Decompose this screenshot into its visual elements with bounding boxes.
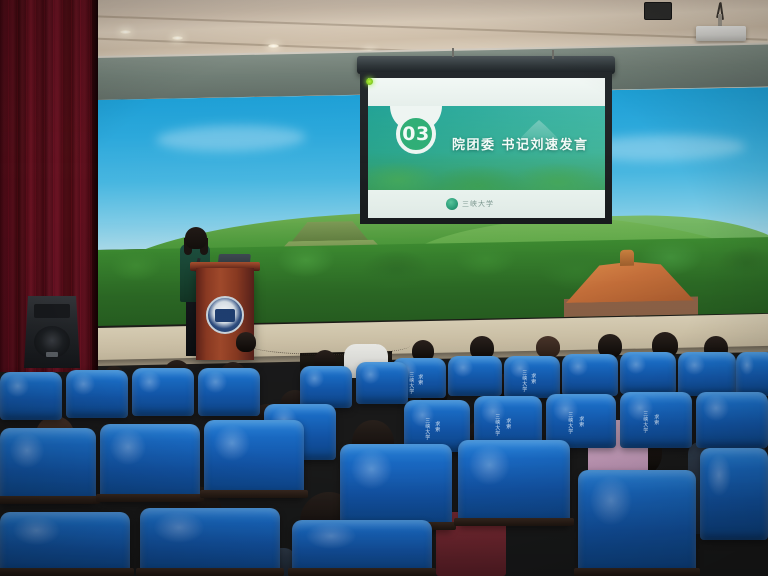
auditorium-seat[interactable] xyxy=(678,352,736,396)
seat-highlight xyxy=(306,523,356,549)
seat-highlight xyxy=(361,365,380,384)
seat-print-text: 求索 xyxy=(653,414,659,425)
auditorium-seat[interactable] xyxy=(132,368,194,416)
mural-pagoda-finial xyxy=(620,250,634,266)
seat-armrest xyxy=(288,568,436,576)
auditorium-seat[interactable]: 三峡大学求索 xyxy=(620,392,692,448)
seat-highlight xyxy=(10,433,45,468)
seat-highlight xyxy=(627,395,653,421)
seat-highlight xyxy=(204,371,226,393)
university-seal-icon xyxy=(206,296,244,334)
seat-print-text: 求索 xyxy=(417,374,423,385)
seat-highlight xyxy=(740,355,754,375)
seat-highlight xyxy=(6,375,28,397)
auditorium-seat[interactable] xyxy=(356,362,408,404)
auditorium-seat[interactable] xyxy=(620,352,676,394)
seat-highlight xyxy=(351,449,391,489)
seat-highlight xyxy=(411,403,435,427)
seat-highlight xyxy=(138,371,160,393)
seat-print-text: 求索 xyxy=(578,416,584,427)
auditorium-seat[interactable] xyxy=(198,368,260,416)
seat-highlight xyxy=(305,369,324,388)
downlight-icon xyxy=(120,30,131,34)
curtain-fold xyxy=(18,0,26,372)
auditorium-photo: 03 院团委 书记刘速发言 三峡大学 三峡大学求索三峡大学求索三峡大学求索三峡大… xyxy=(0,0,768,576)
seat-print-text: 三峡大学 xyxy=(642,411,648,433)
seat-print-text: 求索 xyxy=(505,418,511,429)
slide-number-badge: 03 xyxy=(396,114,436,154)
seat-highlight xyxy=(568,357,588,376)
seat-highlight xyxy=(214,425,250,461)
ceiling-vent-icon xyxy=(644,2,672,20)
auditorium-seat[interactable] xyxy=(340,444,452,530)
seat-highlight xyxy=(626,355,646,374)
auditorium-seat[interactable] xyxy=(300,366,352,408)
auditorium-seat[interactable] xyxy=(448,356,502,396)
slide-title-text: 院团委 书记刘速发言 xyxy=(452,134,600,153)
ceiling-projector-icon xyxy=(696,26,746,41)
seat-highlight xyxy=(553,397,578,422)
seat-highlight xyxy=(72,373,94,395)
downlight-icon xyxy=(268,44,279,48)
auditorium-seat[interactable] xyxy=(562,354,618,396)
auditorium-seat[interactable]: 三峡大学求索 xyxy=(504,356,560,398)
seat-armrest xyxy=(574,568,700,576)
audience-head xyxy=(236,332,256,352)
seat-armrest xyxy=(454,518,574,526)
seat-armrest xyxy=(0,496,100,504)
seat-print-text: 三峡大学 xyxy=(424,418,430,440)
seat-highlight xyxy=(590,476,632,525)
seat-armrest xyxy=(0,568,134,576)
downlight-icon xyxy=(172,36,183,40)
screen-status-led-icon xyxy=(366,78,373,85)
curtain-fold xyxy=(9,0,17,372)
auditorium-seat[interactable] xyxy=(140,508,280,576)
seat-highlight xyxy=(707,454,731,496)
seat-highlight xyxy=(154,512,204,543)
auditorium-seat[interactable] xyxy=(578,470,696,576)
seat-armrest xyxy=(200,490,308,498)
seat-armrest xyxy=(96,494,204,502)
curtain-fold xyxy=(0,0,8,372)
seal-inner xyxy=(215,309,235,322)
auditorium-seat[interactable] xyxy=(736,352,768,396)
seat-highlight xyxy=(453,358,472,376)
projection-screen[interactable]: 03 院团委 书记刘速发言 三峡大学 xyxy=(368,78,605,218)
auditorium-seat[interactable] xyxy=(0,372,62,420)
slide-number-text: 03 xyxy=(402,125,429,144)
seat-armrest xyxy=(136,568,284,576)
university-crest-icon xyxy=(446,198,458,210)
seat-print-text: 求索 xyxy=(530,373,536,384)
seat-print-text: 求索 xyxy=(434,421,440,432)
auditorium-seat[interactable] xyxy=(458,440,570,526)
screen-hook xyxy=(552,50,554,59)
seat-highlight xyxy=(110,429,146,465)
auditorium-seat[interactable] xyxy=(700,448,768,540)
auditorium-seat[interactable] xyxy=(292,520,432,576)
seat-print-text: 三峡大学 xyxy=(521,370,527,392)
auditorium-seat[interactable] xyxy=(0,428,96,504)
audience-head xyxy=(536,336,560,358)
auditorium-seat[interactable] xyxy=(100,424,200,502)
pa-speaker-horn xyxy=(34,304,70,318)
auditorium-seat[interactable] xyxy=(204,420,304,498)
speaker-hair xyxy=(185,227,207,249)
seat-print-text: 三峡大学 xyxy=(408,372,414,394)
seat-highlight xyxy=(469,445,509,485)
slide-top-band xyxy=(368,78,605,106)
pa-speaker-badge xyxy=(46,352,58,357)
curtain-edge xyxy=(92,0,98,372)
seat-highlight xyxy=(703,395,729,421)
curtain-fold xyxy=(81,0,89,372)
seat-highlight xyxy=(13,516,60,545)
slide-logo-text: 三峡大学 xyxy=(462,199,494,209)
seat-print-text: 三峡大学 xyxy=(567,412,573,434)
auditorium-seat[interactable] xyxy=(0,512,130,576)
slide-logo: 三峡大学 xyxy=(446,196,536,211)
auditorium-seat[interactable] xyxy=(696,392,768,448)
auditorium-seat[interactable] xyxy=(66,370,128,418)
screen-hook xyxy=(452,48,454,57)
seat-highlight xyxy=(684,355,705,375)
seat-print-text: 三峡大学 xyxy=(494,414,500,436)
